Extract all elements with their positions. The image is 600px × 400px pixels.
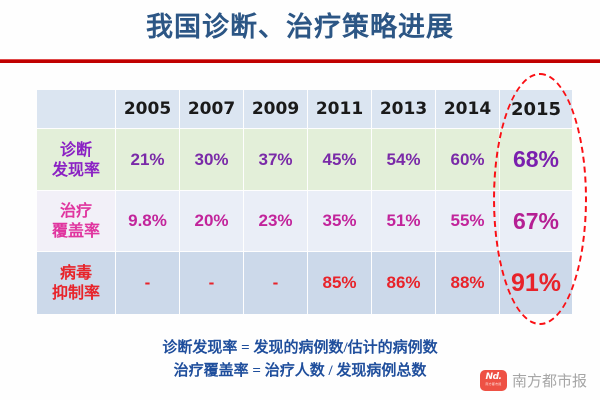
cell-viral-2007: - — [180, 252, 243, 314]
cell-diagnosis-2007: 30% — [180, 129, 243, 190]
progress-table-container: 2005 2007 2009 2011 2013 2014 2015 诊断 发现… — [36, 89, 567, 313]
header-year-2009: 2009 — [244, 90, 307, 128]
watermark-label: 南方都市报 — [512, 370, 587, 391]
cell-treatment-2015: 67% — [500, 191, 572, 251]
cell-diagnosis-2015: 68% — [500, 129, 572, 190]
page-title: 我国诊断、治疗策略进展 — [0, 9, 600, 45]
cell-viral-2011: 85% — [308, 252, 371, 314]
cell-diagnosis-2009: 37% — [244, 129, 307, 190]
header-year-2011: 2011 — [308, 90, 371, 128]
table-row-viral-suppression: 病毒 抑制率 - - - 85% 86% 88% 91% — [37, 252, 572, 314]
cell-treatment-2014: 55% — [436, 191, 499, 251]
cell-diagnosis-2014: 60% — [436, 129, 499, 190]
cell-diagnosis-2005: 21% — [116, 129, 179, 190]
footnote-diagnosis-formula: 诊断发现率 = 发现的病例数/估计的病例数 — [0, 337, 600, 360]
cell-diagnosis-2011: 45% — [308, 129, 371, 190]
cell-viral-2015: 91% — [500, 252, 572, 314]
table-row-treatment-coverage: 治疗 覆盖率 9.8% 20% 23% 35% 51% 55% 67% — [37, 191, 572, 251]
title-divider — [0, 59, 600, 63]
header-year-2007: 2007 — [180, 90, 243, 128]
slide-canvas: 我国诊断、治疗策略进展 2005 2007 2009 2011 2013 201… — [0, 0, 600, 400]
cell-viral-2005: - — [116, 252, 179, 314]
logo-sub-text: 南方都市报 — [485, 382, 501, 387]
cell-diagnosis-2013: 54% — [372, 129, 435, 190]
cell-treatment-2009: 23% — [244, 191, 307, 251]
header-year-2014: 2014 — [436, 90, 499, 128]
cell-treatment-2013: 51% — [372, 191, 435, 251]
cell-viral-2014: 88% — [436, 252, 499, 314]
header-year-2005: 2005 — [116, 90, 179, 128]
cell-viral-2009: - — [244, 252, 307, 314]
logo-mark-text: Nd. — [486, 373, 502, 382]
row-label-treatment-coverage: 治疗 覆盖率 — [37, 191, 115, 251]
cell-viral-2013: 86% — [372, 252, 435, 314]
row-label-viral-suppression: 病毒 抑制率 — [37, 252, 115, 314]
header-corner-cell — [37, 90, 115, 128]
watermark-logo: Nd. 南方都市报 南方都市报 — [480, 366, 592, 394]
progress-table: 2005 2007 2009 2011 2013 2014 2015 诊断 发现… — [36, 89, 573, 315]
table-row-diagnosis-rate: 诊断 发现率 21% 30% 37% 45% 54% 60% 68% — [37, 129, 572, 190]
row-label-diagnosis-rate: 诊断 发现率 — [37, 129, 115, 190]
cell-treatment-2011: 35% — [308, 191, 371, 251]
cell-treatment-2007: 20% — [180, 191, 243, 251]
header-year-2013: 2013 — [372, 90, 435, 128]
table-header-row: 2005 2007 2009 2011 2013 2014 2015 — [37, 90, 572, 128]
header-year-2015: 2015 — [500, 90, 572, 128]
cell-treatment-2005: 9.8% — [116, 191, 179, 251]
nandu-logo-icon: Nd. 南方都市报 — [480, 370, 507, 391]
